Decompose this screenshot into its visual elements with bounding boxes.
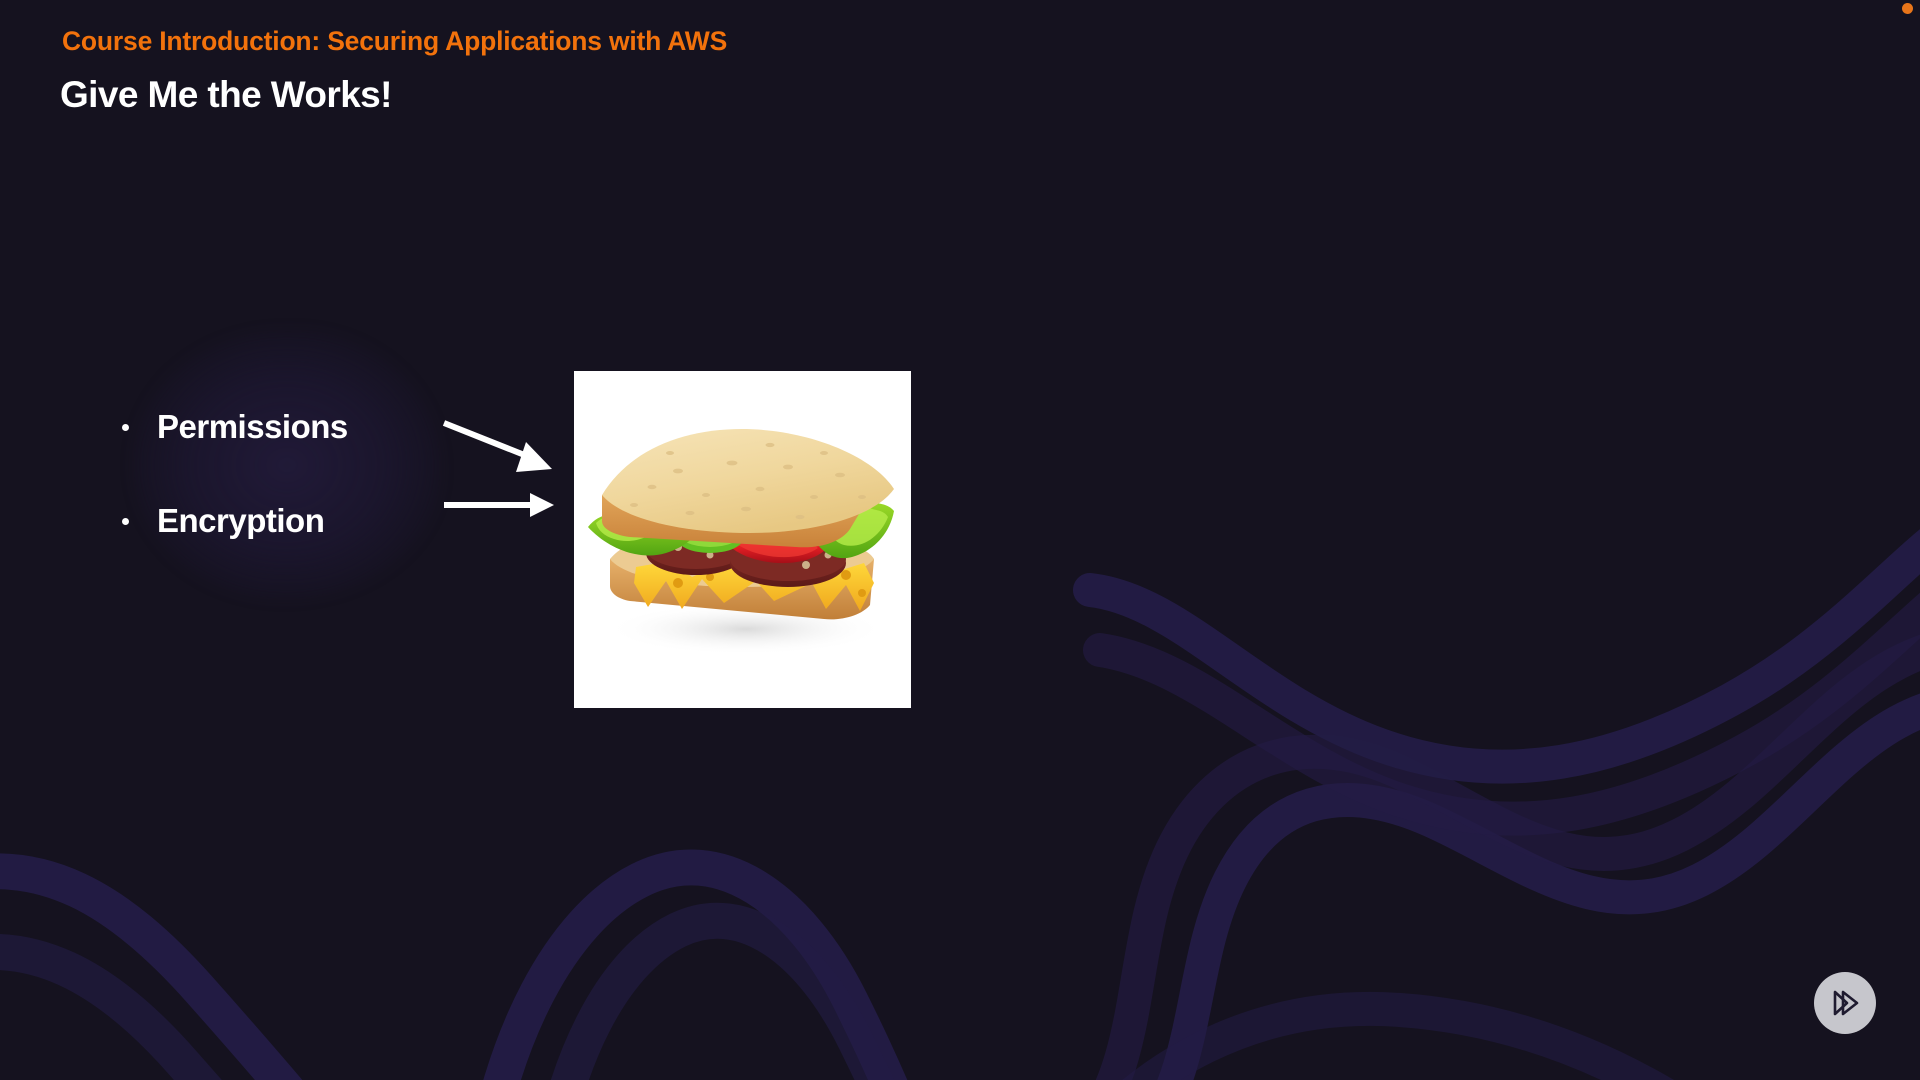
- sandwich-illustration: [574, 371, 911, 708]
- arrow-group: [430, 390, 590, 550]
- bullet-label-permissions: Permissions: [157, 408, 348, 446]
- course-eyebrow-title: Course Introduction: Securing Applicatio…: [62, 26, 727, 57]
- page-title: Give Me the Works!: [60, 74, 392, 116]
- double-play-icon: [1828, 986, 1862, 1020]
- bullet-list: Permissions Encryption: [122, 380, 462, 568]
- sandwich-image-card: [574, 371, 911, 708]
- bullet-dot-icon: [122, 518, 129, 525]
- arrow-encryption-to-sandwich: [444, 493, 554, 517]
- arrow-permissions-to-sandwich: [444, 423, 552, 472]
- list-item: Permissions: [122, 380, 462, 474]
- orange-status-dot: [1902, 3, 1913, 14]
- list-item: Encryption: [122, 474, 462, 568]
- presentation-slide: Course Introduction: Securing Applicatio…: [0, 0, 1920, 1080]
- play-button[interactable]: [1814, 972, 1876, 1034]
- bullet-label-encryption: Encryption: [157, 502, 324, 540]
- bullet-dot-icon: [122, 424, 129, 431]
